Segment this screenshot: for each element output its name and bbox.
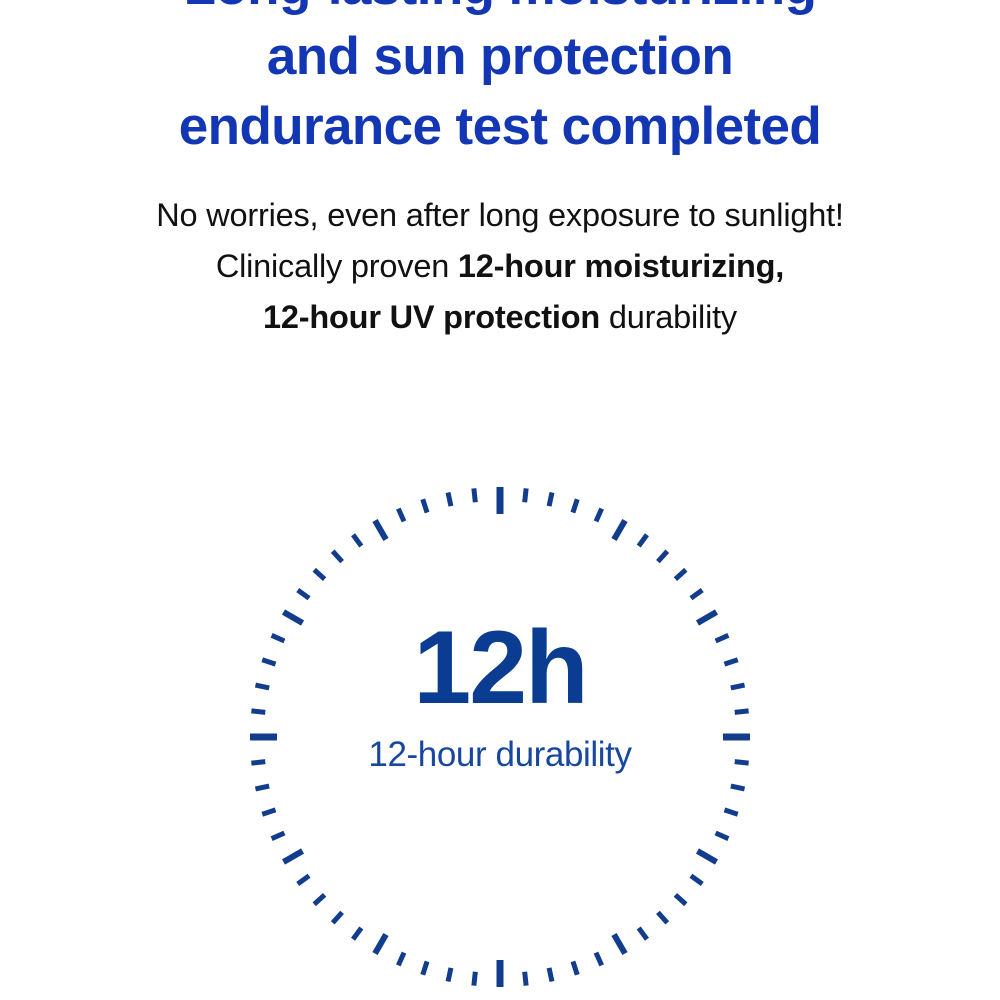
dial-tick — [716, 635, 729, 641]
dial-tick — [353, 928, 361, 939]
dial-tick — [283, 612, 302, 623]
dial-tick — [614, 934, 625, 953]
dial-tick — [697, 851, 716, 862]
dial-tick — [262, 660, 275, 664]
dial-tick — [375, 520, 386, 539]
dial-tick — [398, 953, 404, 966]
dial-tick — [314, 895, 324, 904]
dial-tick — [596, 953, 602, 966]
dial-tick — [716, 833, 729, 839]
heading-line-3: endurance test completed — [0, 92, 1000, 162]
dial-tick — [353, 535, 361, 546]
subtitle-line-2: Clinically proven 12-hour moisturizing, — [0, 241, 1000, 292]
dial-tick — [724, 810, 737, 814]
dial-tick — [398, 509, 404, 522]
dial-tick — [251, 762, 265, 763]
dial-tick — [272, 833, 285, 839]
dial-tick — [675, 570, 685, 579]
dial-tick — [658, 551, 667, 561]
dial-tick — [731, 685, 745, 688]
dial-tick — [283, 851, 302, 862]
dial-tick — [639, 928, 647, 939]
subtitle-line-1: No worries, even after long exposure to … — [0, 190, 1000, 241]
dial-tick — [333, 912, 342, 922]
subtitle-block: No worries, even after long exposure to … — [0, 190, 1000, 343]
dial-tick — [639, 535, 647, 546]
dial-tick — [423, 499, 427, 512]
subtitle-line-2-bold: 12-hour moisturizing, — [458, 248, 784, 284]
dial-tick — [658, 912, 667, 922]
dial-tick — [614, 520, 625, 539]
dial-tick — [549, 968, 552, 982]
promo-page: Long-lasting moisturizing and sun protec… — [0, 0, 1000, 1000]
dial-tick — [448, 968, 451, 982]
dial-tick — [251, 711, 265, 712]
subtitle-line-3-bold: 12-hour UV protection — [263, 299, 600, 335]
subtitle-line-3: 12-hour UV protection durability — [0, 292, 1000, 343]
dial-tick — [375, 934, 386, 953]
dial-tick — [525, 972, 526, 986]
dial-tick — [272, 635, 285, 641]
dial-tick — [724, 660, 737, 664]
dial-tick — [298, 590, 309, 598]
dial-tick — [474, 972, 475, 986]
dial-tick — [262, 810, 275, 814]
dial-tick — [596, 509, 602, 522]
subtitle-line-2-prefix: Clinically proven — [216, 248, 458, 284]
dial-tick — [573, 499, 577, 512]
durability-dial: 12h 12-hour durability — [250, 487, 750, 987]
dial-tick — [423, 961, 427, 974]
dial-tick — [255, 685, 269, 688]
subtitle-line-3-suffix: durability — [600, 299, 737, 335]
dial-tick — [298, 876, 309, 884]
dial-tick — [255, 786, 269, 789]
dial-tick — [675, 895, 685, 904]
dial-tick — [549, 492, 552, 506]
dial-ticks-icon — [250, 487, 750, 987]
dial-tick — [697, 612, 716, 623]
dial-tick — [573, 961, 577, 974]
page-title: Long-lasting moisturizing and sun protec… — [0, 0, 1000, 162]
dial-tick — [735, 762, 749, 763]
dial-tick — [731, 786, 745, 789]
dial-tick — [691, 876, 702, 884]
dial-tick — [474, 488, 475, 502]
dial-tick — [333, 551, 342, 561]
dial-tick — [735, 711, 749, 712]
heading-line-2: and sun protection — [0, 22, 1000, 92]
dial-tick — [448, 492, 451, 506]
dial-tick — [691, 590, 702, 598]
dial-tick — [525, 488, 526, 502]
heading-line-1: Long-lasting moisturizing — [0, 0, 1000, 22]
dial-tick — [314, 570, 324, 579]
